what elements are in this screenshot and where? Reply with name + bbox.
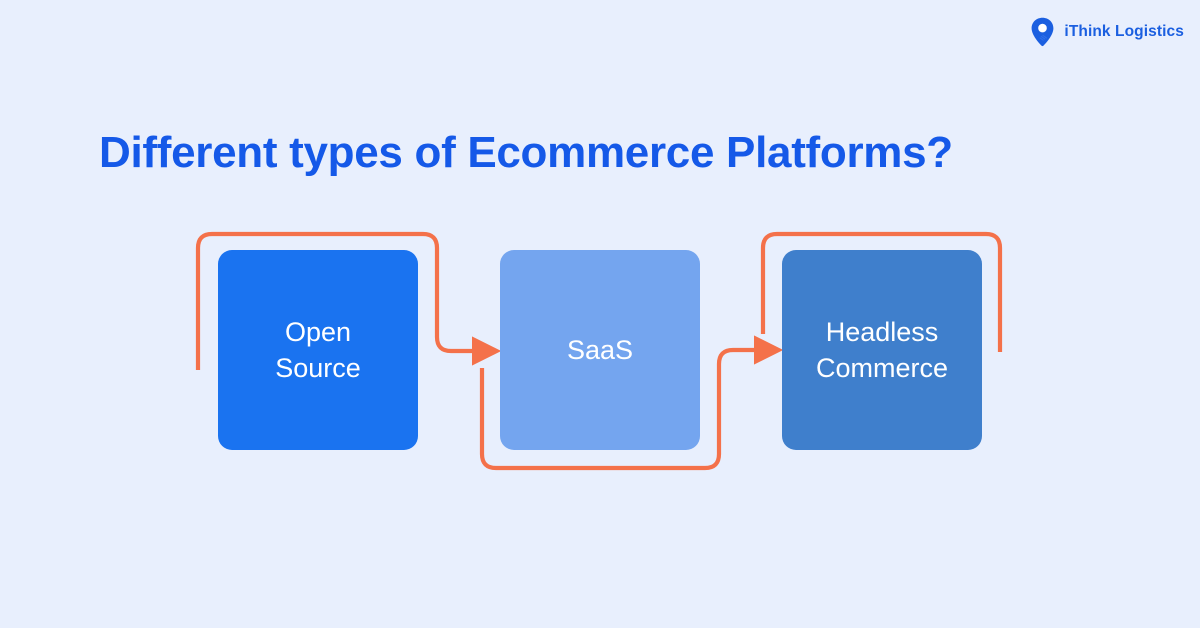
flow-node-headless-commerce-label-line2: Commerce (816, 353, 948, 383)
flow-node-saas-label: SaaS (559, 332, 641, 368)
flow-diagram: OpenSource SaaS HeadlessCommerce (0, 0, 1200, 628)
flow-node-headless-commerce[interactable]: HeadlessCommerce (782, 250, 982, 450)
flow-node-open-source-label: OpenSource (267, 314, 369, 387)
flow-node-open-source-label-line2: Source (275, 353, 361, 383)
flow-node-saas[interactable]: SaaS (500, 250, 700, 450)
flow-node-headless-commerce-label-line1: Headless (826, 317, 939, 347)
flow-node-open-source-label-line1: Open (285, 317, 351, 347)
infographic-canvas: iThink Logistics Different types of Ecom… (0, 0, 1200, 628)
flow-node-headless-commerce-label: HeadlessCommerce (808, 314, 956, 387)
flow-node-open-source[interactable]: OpenSource (218, 250, 418, 450)
